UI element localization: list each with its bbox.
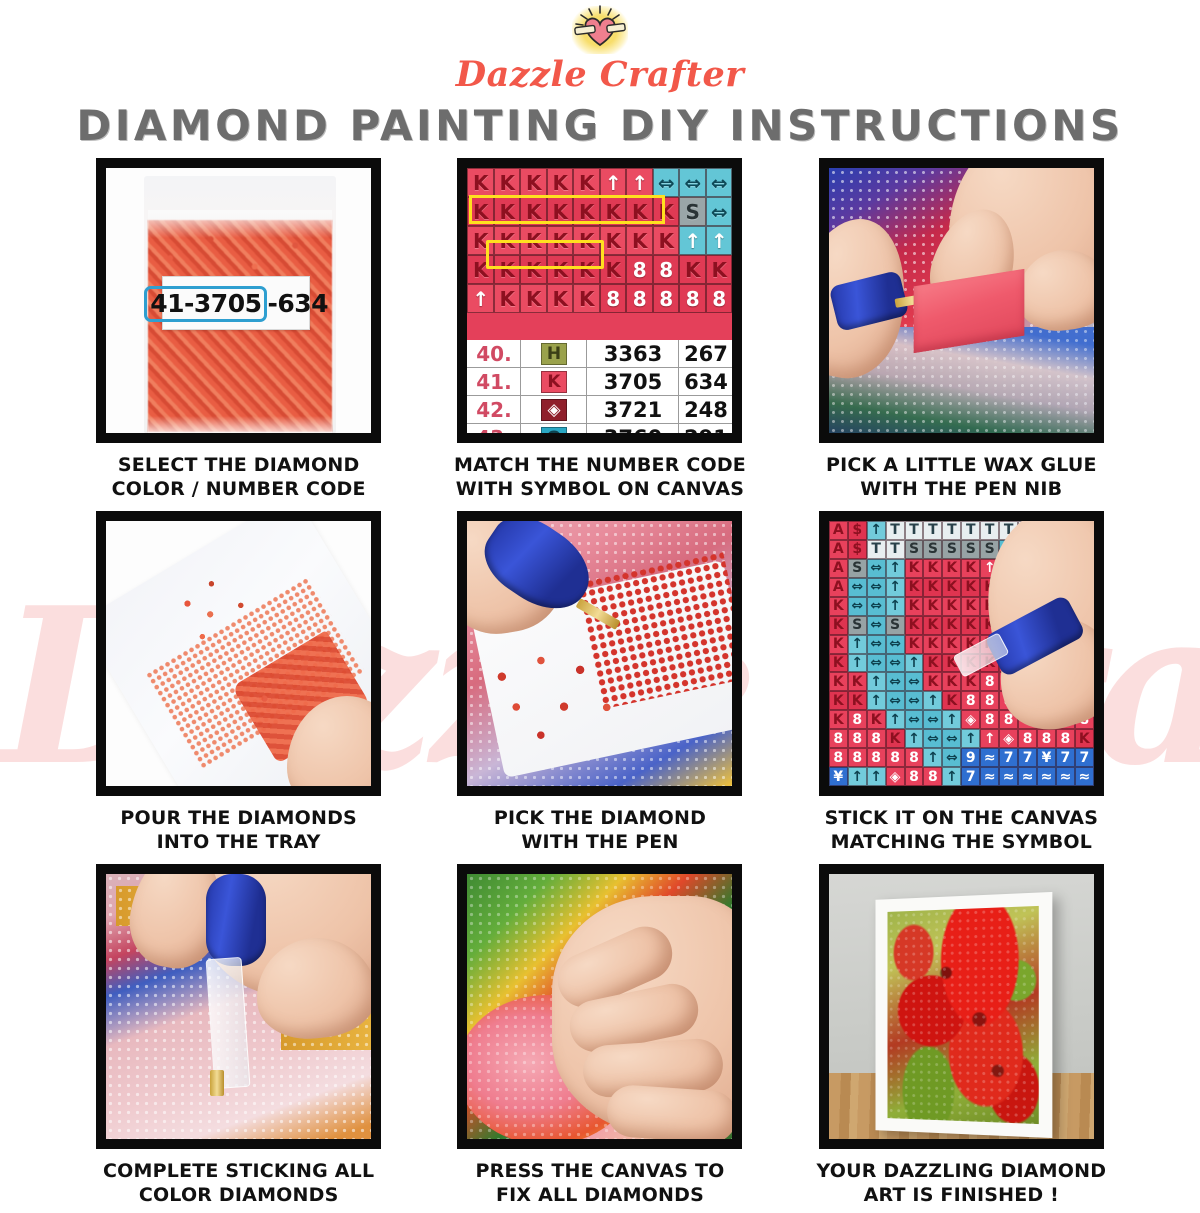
grid-cell: K <box>679 255 706 284</box>
grid-cell: ⇔ <box>905 710 924 729</box>
grid-cell: 8 <box>600 284 627 313</box>
grid-cell: 7 <box>1075 748 1094 767</box>
grid-cell: $ <box>848 540 867 559</box>
step-caption-4: POUR THE DIAMONDS INTO THE TRAY <box>120 806 357 860</box>
grid-cell: K <box>942 635 961 654</box>
step-caption-8: PRESS THE CANVAS TO FIX ALL DIAMONDS <box>475 1159 724 1213</box>
grid-cell: ⇔ <box>653 168 680 197</box>
code-highlight: 41-3705 <box>144 286 266 322</box>
grid-cell: ↑ <box>867 767 886 786</box>
instructions-page: Dazzle Crafter DIAMOND PAINTING DIY INST… <box>0 0 1200 1200</box>
brand-header: Dazzle Crafter <box>0 0 1200 95</box>
grid-cell: ↑ <box>600 168 627 197</box>
grid-cell: K <box>923 654 942 673</box>
grid-cell: K <box>829 710 848 729</box>
grid-cell: T <box>980 521 999 540</box>
grid-cell: ↑ <box>923 691 942 710</box>
grid-cell: K <box>494 284 521 313</box>
grid-cell: 8 <box>923 767 942 786</box>
grid-cell: T <box>942 521 961 540</box>
grid-cell: ⇔ <box>867 578 886 597</box>
step-caption-6: STICK IT ON THE CANVAS MATCHING THE SYMB… <box>825 806 1099 860</box>
grid-cell: 8 <box>980 691 999 710</box>
step-card-6: A$↑TTTTTTTT↑KKA$TTSSSSS⇔⇔SKKAS⇔↑KKKK↑⇔⇔K… <box>795 511 1128 860</box>
brand-name: Dazzle Crafter <box>0 54 1200 95</box>
legend-row-symbol: ◈ <box>521 396 587 423</box>
step-card-9: YOUR DAZZLING DIAMOND ART IS FINISHED ! <box>795 864 1128 1213</box>
legend-row-highlight <box>469 195 665 224</box>
grid-cell: K <box>905 597 924 616</box>
grid-cell: K <box>923 597 942 616</box>
grid-cell: 8 <box>848 748 867 767</box>
grid-cell: 8 <box>653 255 680 284</box>
grid-cell: ↑ <box>848 767 867 786</box>
grid-cell: K <box>867 710 886 729</box>
grid-cell: K <box>923 559 942 578</box>
legend-row: 43.Q3760291 <box>467 424 732 433</box>
symbol-chip: K <box>541 371 567 393</box>
grid-cell: S <box>942 540 961 559</box>
grid-cell: K <box>467 168 494 197</box>
grid-cell: K <box>547 284 574 313</box>
grid-cell: ↑ <box>886 710 905 729</box>
symbol-chip: ◈ <box>541 399 567 421</box>
grid-cell: ↑ <box>886 559 905 578</box>
grid-cell: K <box>923 578 942 597</box>
grid-cell: ⇔ <box>905 691 924 710</box>
grid-cell: 8 <box>1037 729 1056 748</box>
step-caption-1: SELECT THE DIAMOND COLOR / NUMBER CODE <box>112 453 366 507</box>
grid-cell: 8 <box>653 284 680 313</box>
wax-glue-pickup-photo <box>819 158 1104 443</box>
grid-cell: ⇔ <box>923 729 942 748</box>
grid-cell: K <box>520 284 547 313</box>
grid-cell: K <box>942 672 961 691</box>
grid-cell: K <box>905 616 924 635</box>
grid-cell: ⇔ <box>848 578 867 597</box>
grid-cell: K <box>573 168 600 197</box>
diamond-bag-photo: 41-3705-634 <box>96 158 381 443</box>
legend-row-count: 248 <box>679 396 732 423</box>
grid-cell: 8 <box>905 767 924 786</box>
grid-cell: ≈ <box>980 767 999 786</box>
grid-cell: 8 <box>829 748 848 767</box>
step-card-7: COMPLETE STICKING ALL COLOR DIAMONDS <box>72 864 405 1213</box>
grid-cell: K <box>829 616 848 635</box>
grid-cell: S <box>848 616 867 635</box>
grid-cell: 8 <box>867 748 886 767</box>
grid-cell: A <box>829 559 848 578</box>
grid-cell: T <box>905 521 924 540</box>
grid-cell: T <box>886 540 905 559</box>
grid-cell: 7 <box>1056 748 1075 767</box>
legend-row-symbol: Q <box>521 424 587 433</box>
grid-cell: 8 <box>1056 729 1075 748</box>
step-card-8: PRESS THE CANVAS TO FIX ALL DIAMONDS <box>433 864 766 1213</box>
grid-cell: ¥ <box>829 767 848 786</box>
grid-cell: S <box>923 540 942 559</box>
grid-cell: K <box>653 226 680 255</box>
tray-with-diamonds-photo <box>96 511 381 796</box>
legend-row-symbol: H <box>521 340 587 367</box>
grid-cell: ↑ <box>905 654 924 673</box>
grid-cell: K <box>547 168 574 197</box>
grid-cell: ↑ <box>706 226 733 255</box>
grid-cell: ¥ <box>1037 748 1056 767</box>
grid-cell: K <box>848 691 867 710</box>
code-suffix: -634 <box>268 289 329 318</box>
grid-cell: A <box>829 540 848 559</box>
grid-cell: T <box>923 521 942 540</box>
pen-nib-icon <box>210 1070 224 1096</box>
finger <box>606 1084 733 1139</box>
grid-cell: 7 <box>961 767 980 786</box>
grid-cell: A <box>829 578 848 597</box>
grid-cell: A <box>829 521 848 540</box>
grid-cell: ↑ <box>848 635 867 654</box>
grid-cell: 8 <box>848 710 867 729</box>
legend-row: 40.H3363267 <box>467 340 732 368</box>
grid-cell: K <box>829 597 848 616</box>
step-card-2: KKKKK↑↑⇔⇔⇔KKKKKKKKS⇔KKKKKKKK↑↑KKKKKK88KK… <box>433 158 766 507</box>
grid-cell: ↑ <box>923 748 942 767</box>
canvas-grid-highlight <box>486 240 604 269</box>
grid-cell: ↑ <box>980 729 999 748</box>
grid-cell: ↑ <box>942 767 961 786</box>
grid-cell: ↑ <box>867 521 886 540</box>
legend-row: 42.◈3721248 <box>467 396 732 424</box>
grid-cell: 8 <box>980 710 999 729</box>
grid-cell: S <box>961 540 980 559</box>
step-caption-2: MATCH THE NUMBER CODE WITH SYMBOL ON CAN… <box>454 453 746 507</box>
grid-cell: $ <box>848 521 867 540</box>
picture-frame <box>875 892 1052 1138</box>
grid-cell: ⇔ <box>867 616 886 635</box>
grid-cell: ◈ <box>961 710 980 729</box>
grid-cell: 8 <box>1018 729 1037 748</box>
grid-cell: T <box>867 540 886 559</box>
grid-cell: ≈ <box>1018 767 1037 786</box>
grid-cell: ↑ <box>905 729 924 748</box>
grid-cell: K <box>886 729 905 748</box>
grid-cell: ⇔ <box>848 597 867 616</box>
pen-picking-diamond-photo <box>457 511 742 796</box>
symbol-chip: H <box>541 343 567 365</box>
grid-cell: ≈ <box>980 748 999 767</box>
grid-cell: ⇔ <box>867 559 886 578</box>
grid-cell: 8 <box>829 729 848 748</box>
grid-cell: ⇔ <box>923 710 942 729</box>
grid-cell: ⇔ <box>905 672 924 691</box>
grid-cell: K <box>829 691 848 710</box>
grid-cell: K <box>1075 729 1094 748</box>
legend-row-number: 40. <box>467 340 521 367</box>
grid-cell: 8 <box>886 748 905 767</box>
legend-row-count: 267 <box>679 340 732 367</box>
grid-cell: K <box>942 691 961 710</box>
grid-cell: T <box>961 521 980 540</box>
grid-cell: K <box>923 672 942 691</box>
grid-cell: ↑ <box>867 691 886 710</box>
legend-row-symbol: K <box>521 368 587 395</box>
legend-row-number: 43. <box>467 424 521 433</box>
grid-cell: K <box>706 255 733 284</box>
grid-cell: ⇔ <box>886 635 905 654</box>
grid-cell: ⇔ <box>867 635 886 654</box>
grid-cell: ≈ <box>999 767 1018 786</box>
pen-blue-grip <box>206 874 266 966</box>
placing-diamond-on-symbol-photo: A$↑TTTTTTTT↑KKA$TTSSSSS⇔⇔SKKAS⇔↑KKKK↑⇔⇔K… <box>819 511 1104 796</box>
grid-cell: ↑ <box>626 168 653 197</box>
step-caption-5: PICK THE DIAMOND WITH THE PEN <box>494 806 706 860</box>
grid-cell: 8 <box>848 729 867 748</box>
step-card-1: 41-3705-634 SELECT THE DIAMOND COLOR / N… <box>72 158 405 507</box>
grid-cell: T <box>886 521 905 540</box>
step-card-4: POUR THE DIAMONDS INTO THE TRAY <box>72 511 405 860</box>
step-card-5: PICK THE DIAMOND WITH THE PEN <box>433 511 766 860</box>
grid-cell: ≈ <box>1037 767 1056 786</box>
brand-logo <box>562 4 638 56</box>
grid-cell: K <box>905 578 924 597</box>
grid-cell: ↑ <box>679 226 706 255</box>
grid-cell: K <box>848 672 867 691</box>
grid-cell: K <box>923 635 942 654</box>
grid-cell: ↑ <box>467 284 494 313</box>
steps-grid: 41-3705-634 SELECT THE DIAMOND COLOR / N… <box>0 158 1200 1213</box>
legend-row-number: 42. <box>467 396 521 423</box>
grid-cell: S <box>848 559 867 578</box>
canvas-chart-and-legend-photo: KKKKK↑↑⇔⇔⇔KKKKKKKKS⇔KKKKKKKK↑↑KKKKKK88KK… <box>457 158 742 443</box>
step-caption-9: YOUR DAZZLING DIAMOND ART IS FINISHED ! <box>816 1159 1106 1213</box>
completed-section-photo <box>96 864 381 1149</box>
grid-cell: K <box>923 616 942 635</box>
grid-cell: ↑ <box>942 710 961 729</box>
page-title: DIAMOND PAINTING DIY INSTRUCTIONS <box>0 101 1200 150</box>
grid-cell: 9 <box>961 748 980 767</box>
step-caption-7: COMPLETE STICKING ALL COLOR DIAMONDS <box>103 1159 374 1213</box>
grid-cell: K <box>494 168 521 197</box>
legend-row-dmc: 3721 <box>587 396 679 423</box>
grid-cell: S <box>679 197 706 226</box>
grid-cell: K <box>829 654 848 673</box>
bag-label-text: 41-3705-634 <box>144 289 328 318</box>
grid-cell: 8 <box>867 729 886 748</box>
grid-cell: K <box>573 284 600 313</box>
grid-cell: ◈ <box>999 729 1018 748</box>
poppy-diamond-art <box>887 906 1038 1124</box>
step-card-3: PICK A LITTLE WAX GLUE WITH THE PEN NIB <box>795 158 1128 507</box>
grid-cell: K <box>520 168 547 197</box>
grid-cell: K <box>905 559 924 578</box>
grid-cell: ⇔ <box>942 729 961 748</box>
grid-cell: ⇔ <box>867 597 886 616</box>
grid-cell: ↑ <box>886 578 905 597</box>
bag-label: 41-3705-634 <box>162 276 310 330</box>
heart-with-pen-icon <box>562 4 638 56</box>
grid-cell: ↑ <box>961 729 980 748</box>
grid-cell: 7 <box>999 748 1018 767</box>
grid-cell: ⇔ <box>706 197 733 226</box>
grid-cell: ≈ <box>1075 767 1094 786</box>
legend-row-dmc: 3760 <box>587 424 679 433</box>
grid-cell: ⇔ <box>886 654 905 673</box>
grid-cell: ⇔ <box>706 168 733 197</box>
grid-cell: K <box>829 635 848 654</box>
grid-cell: ⇔ <box>886 672 905 691</box>
grid-cell: ↑ <box>867 672 886 691</box>
grid-cell: ↑ <box>886 597 905 616</box>
grid-cell: ≈ <box>1056 767 1075 786</box>
grid-cell: K <box>961 616 980 635</box>
grid-cell: K <box>942 616 961 635</box>
grid-cell: 8 <box>980 672 999 691</box>
grid-cell: K <box>942 597 961 616</box>
grid-cell: K <box>829 672 848 691</box>
legend-row-dmc: 3363 <box>587 340 679 367</box>
grid-cell: 8 <box>961 691 980 710</box>
grid-cell: 8 <box>626 255 653 284</box>
grid-cell: ⇔ <box>679 168 706 197</box>
grid-cell: S <box>886 616 905 635</box>
grid-cell: K <box>942 578 961 597</box>
grid-cell: K <box>961 597 980 616</box>
grid-cell: ⇔ <box>867 654 886 673</box>
grid-cell: K <box>942 559 961 578</box>
legend-row-count: 291 <box>679 424 732 433</box>
legend-row-dmc: 3705 <box>587 368 679 395</box>
grid-cell: 8 <box>679 284 706 313</box>
grid-cell: K <box>961 559 980 578</box>
color-legend-table: 40.H336326741.K370563442.◈372124843.Q376… <box>467 340 732 433</box>
grid-cell: ◈ <box>886 767 905 786</box>
grid-cell: ⇔ <box>886 691 905 710</box>
legend-row-number: 41. <box>467 368 521 395</box>
symbol-chip: Q <box>541 427 567 434</box>
legend-row-count: 634 <box>679 368 732 395</box>
grid-cell: S <box>905 540 924 559</box>
step-caption-3: PICK A LITTLE WAX GLUE WITH THE PEN NIB <box>826 453 1097 507</box>
pressing-canvas-photo <box>457 864 742 1149</box>
grid-cell: 8 <box>905 748 924 767</box>
grid-cell: 8 <box>706 284 733 313</box>
finished-framed-art-photo <box>819 864 1104 1149</box>
grid-cell: K <box>961 578 980 597</box>
grid-cell: ⇔ <box>942 748 961 767</box>
grid-cell: K <box>626 226 653 255</box>
grid-cell: 8 <box>626 284 653 313</box>
grid-cell: ↑ <box>848 654 867 673</box>
grid-cell: 7 <box>1018 748 1037 767</box>
grid-cell: K <box>905 635 924 654</box>
legend-row: 41.K3705634 <box>467 368 732 396</box>
